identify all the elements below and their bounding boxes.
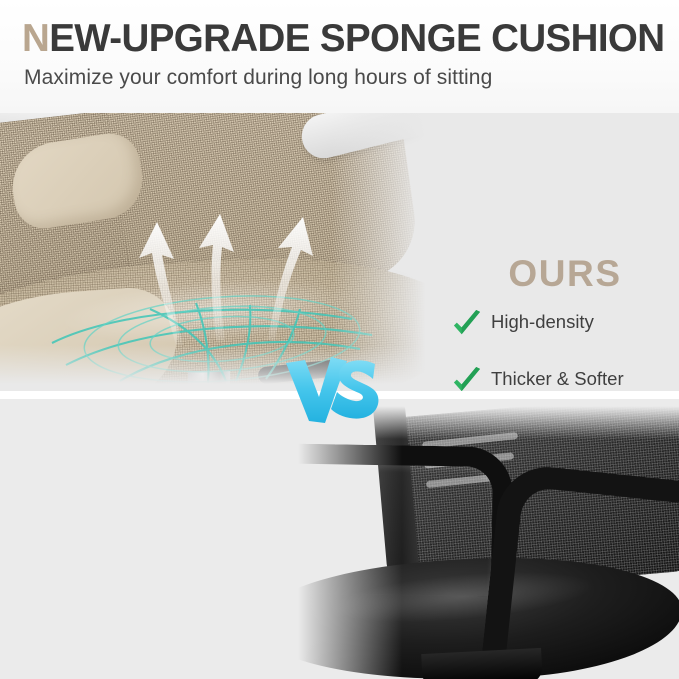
infographic-root: NEW-UPGRADE SPONGE CUSHION Maximize your… xyxy=(0,0,679,679)
others-panel: OTHERS Easy to deform Thin & Hard No mes… xyxy=(0,399,679,679)
page-title-rest: EW-UPGRADE SPONGE CUSHION xyxy=(49,17,664,60)
header-banner: NEW-UPGRADE SPONGE CUSHION Maximize your… xyxy=(0,0,679,113)
ours-chair-image xyxy=(0,113,452,391)
green-check-icon xyxy=(451,309,482,340)
list-item: Thicker & Softer xyxy=(451,366,679,391)
ours-feature-label: Thicker & Softer xyxy=(491,366,624,391)
page-title: NEW-UPGRADE SPONGE CUSHION xyxy=(22,20,664,59)
green-check-icon xyxy=(451,366,482,391)
ours-panel: OURS High-density Thicker & Softer xyxy=(0,113,679,391)
ours-heading: OURS xyxy=(451,253,679,295)
others-armrest-right xyxy=(479,462,679,679)
ours-feature-label: High-density xyxy=(491,309,594,334)
others-chair-base xyxy=(421,648,543,679)
page-subtitle: Maximize your comfort during long hours … xyxy=(24,66,492,90)
ours-image-bottom-fade xyxy=(0,345,452,391)
list-item: High-density xyxy=(451,309,679,340)
versus-badge xyxy=(283,357,381,423)
others-chair-image xyxy=(272,399,679,679)
others-image-left-fade xyxy=(272,399,402,679)
ours-feature-list: High-density Thicker & Softer Breathable… xyxy=(451,309,679,391)
page-title-lead-letter: N xyxy=(22,17,49,60)
